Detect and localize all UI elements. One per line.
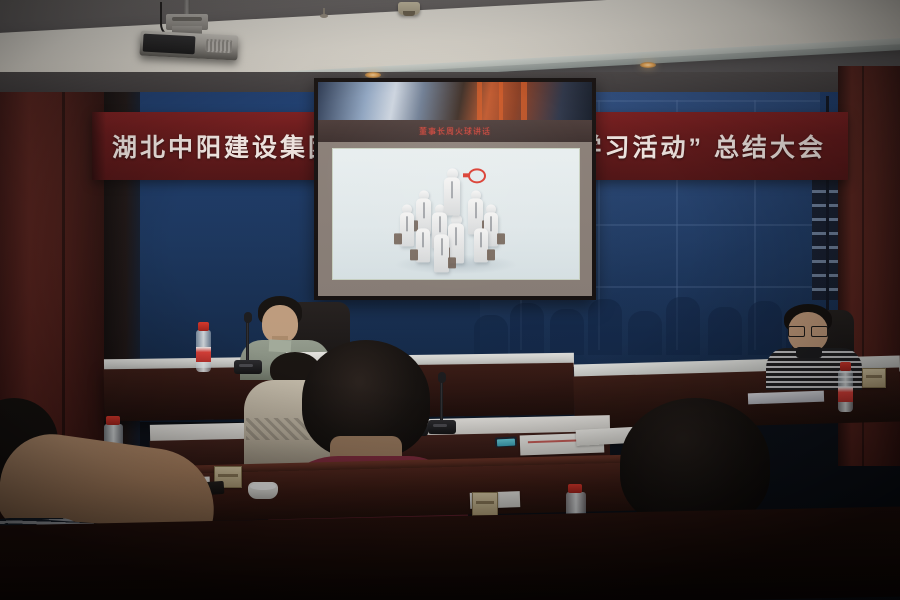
figurine-tie <box>423 202 425 218</box>
figurine-tie <box>490 216 492 231</box>
water-bottle <box>196 330 211 372</box>
projector-body <box>139 30 238 60</box>
conference-room-photo: 湖北中阳建设集团 “2014年 学习活动” 总结大会 董事长周火球讲话 <box>0 0 900 600</box>
figurine-tie <box>475 202 477 218</box>
megaphone-icon <box>468 168 486 183</box>
mic-head <box>244 312 252 323</box>
bottle-label <box>196 347 211 362</box>
bottle-cap <box>840 362 851 371</box>
glasses-icon <box>788 326 828 335</box>
ceiling-projector <box>120 0 250 60</box>
figurine-briefcase <box>410 249 418 260</box>
figurine-briefcase <box>394 233 402 244</box>
hair <box>620 398 770 528</box>
smoke-detector-icon <box>398 2 420 15</box>
name-card-holder <box>862 368 886 388</box>
bottle-cap <box>198 322 209 331</box>
figurine-tie <box>439 216 441 232</box>
collar <box>796 347 822 358</box>
figurine-tie <box>480 232 482 247</box>
mobile-phone <box>495 436 517 447</box>
slide-figurine-graphic <box>386 164 526 272</box>
projector-lens-icon <box>143 34 196 55</box>
figurine-tie <box>422 232 424 247</box>
banner-fold <box>92 112 106 180</box>
downlight-icon <box>640 62 656 68</box>
figurine-tie <box>406 216 408 231</box>
figurine-briefcase <box>497 233 505 244</box>
slide-title-bar: 董事长周火球讲话 <box>318 120 592 142</box>
figurine-briefcase <box>448 257 456 268</box>
bottle-label <box>838 387 853 402</box>
water-bottle <box>838 370 853 412</box>
slide-content-area <box>332 148 580 280</box>
figurine-briefcase <box>487 249 495 260</box>
slide-photo-strip <box>318 82 592 120</box>
screen-surface: 董事长周火球讲话 <box>318 82 592 296</box>
banner-text-right: 学习活动” 总结大会 <box>577 112 826 180</box>
bottle-cap <box>568 484 582 493</box>
projector-vent <box>206 39 233 53</box>
figurine-tie <box>455 227 457 245</box>
slide-title: 董事长周火球讲话 <box>419 126 491 137</box>
figurine-tie <box>451 181 453 198</box>
name-card-holder <box>472 492 498 516</box>
projection-screen: 董事长周火球讲话 <box>314 78 596 300</box>
figurine-tie <box>441 238 443 255</box>
sprinkler-icon <box>320 8 328 20</box>
